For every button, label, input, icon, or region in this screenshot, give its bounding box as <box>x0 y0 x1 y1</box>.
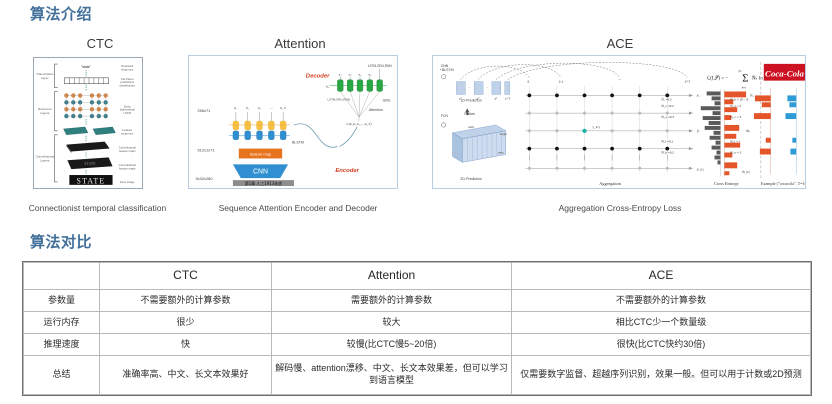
cell-memory-ace: 相比CTC少一个数量级 <box>512 312 811 334</box>
svg-text:ȳₖ: ȳₖ <box>697 129 701 133</box>
table-row: 推理速度 快 较慢(比CTC慢5~20倍) 很快(比CTC快约30倍) <box>24 334 811 356</box>
row-label-speed: 推理速度 <box>24 334 100 356</box>
svg-text:|C|: |C| <box>739 69 743 73</box>
table-header-attention: Attention <box>272 263 512 290</box>
table-header-row: CTC Attention ACE <box>24 263 811 290</box>
svg-text:-: - <box>469 86 470 90</box>
svg-text:3x32x280: 3x32x280 <box>195 176 213 181</box>
svg-text:CNN: CNN <box>253 169 268 176</box>
figure-ace: CNN+BLSTM FCN 1D-Prediction 2D-Predictio… <box>432 55 806 189</box>
svg-text:Attention: Attention <box>369 108 383 112</box>
attention-diagram: 256x71 512x1x71 3x32x280 <box>189 56 397 188</box>
svg-text:y²: y² <box>477 96 480 100</box>
table-row: 运行内存 很少 较大 相比CTC少一个数量级 <box>24 312 811 334</box>
cell-params-attention: 需要额外的计算参数 <box>272 290 512 312</box>
cell-speed-ace: 很快(比CTC快约30倍) <box>512 334 811 356</box>
svg-text:ℒ(I,𝒮) = −: ℒ(I,𝒮) = − <box>707 76 729 82</box>
svg-text:LSTM: LSTM <box>123 111 131 115</box>
row-label-summary: 总结 <box>24 356 100 395</box>
svg-text:ȳ₁: ȳ₁ <box>697 93 700 97</box>
svg-text:N̄ₖ ln ȳₖ: N̄ₖ ln ȳₖ <box>752 76 768 82</box>
svg-text:feature maps: feature maps <box>119 167 136 171</box>
ace-diagram: CNN+BLSTM FCN 1D-Prediction 2D-Predictio… <box>433 56 805 188</box>
svg-text:k=1: k=1 <box>742 86 747 90</box>
svg-text:Aggregation: Aggregation <box>599 181 621 186</box>
svg-text:FCN: FCN <box>441 114 449 118</box>
svg-text:ȳ^T: ȳ^T <box>685 80 691 84</box>
svg-text:y_k^j: y_k^j <box>592 125 600 129</box>
cell-summary-ace: 仅需要数字监督、超越序列识别，效果一般。但可以用于计数或2D预测 <box>512 356 811 395</box>
comparison-table: CTC Attention ACE 参数量 不需要额外的计算参数 需要额外的计算… <box>23 262 811 395</box>
svg-text:BLSTM: BLSTM <box>292 141 304 145</box>
svg-text:Layer: Layer <box>41 76 49 80</box>
cell-memory-ctc: 很少 <box>100 312 272 334</box>
svg-text:Input image: Input image <box>120 180 135 184</box>
table-header-ctc: CTC <box>100 263 272 290</box>
svg-text:(distribution): (distribution) <box>119 84 135 88</box>
svg-text:—: — <box>617 78 622 82</box>
table-header-ace: ACE <box>512 263 811 290</box>
svg-text:ȳ_|C|: ȳ_|C| <box>697 167 705 171</box>
svg-text:Encoder: Encoder <box>335 168 359 174</box>
svg-text:sequence: sequence <box>121 67 134 71</box>
cell-speed-ctc: 快 <box>100 334 272 356</box>
svg-text:GRU: GRU <box>383 98 391 102</box>
svg-text:256x71: 256x71 <box>197 108 210 113</box>
slide-root: 算法介绍 CTC Attention ACE TranscriptionLaye… <box>0 0 832 404</box>
svg-text:ȳ₁: ȳ₁ <box>527 80 530 84</box>
figure-caption-attention: Sequence Attention Encoder and Decoder <box>193 203 403 213</box>
svg-text:N̄₁: N̄₁ <box>750 93 754 98</box>
svg-text:feature map: feature map <box>250 151 272 156</box>
svg-text:y₁: y₁ <box>339 73 342 77</box>
svg-text:Decoder: Decoder <box>306 74 330 80</box>
table-row: 参数量 不需要额外的计算参数 需要额外的计算参数 不需要额外的计算参数 <box>24 290 811 312</box>
svg-text:N̄ₖ: N̄ₖ <box>746 128 751 133</box>
svg-text:"state": "state" <box>81 65 91 69</box>
figure-ctc: TranscriptionLayer RecurrentLayers Convo… <box>33 57 143 189</box>
cell-summary-attention: 解码慢、attention漂移、中文、长文本效果差，但可以学习到语言模型 <box>272 356 512 395</box>
svg-text:N̄_|C|: N̄_|C| <box>742 170 750 175</box>
cell-params-ace: 不需要额外的计算参数 <box>512 290 811 312</box>
row-label-memory: 运行内存 <box>24 312 100 334</box>
table-row: 总结 准确率高、中文、长文本效果好 解码慢、attention漂移、中文、长文本… <box>24 356 811 395</box>
svg-text:LSTM,GRU,RNN: LSTM,GRU,RNN <box>327 97 349 101</box>
section-heading-intro: 算法介绍 <box>30 3 92 24</box>
cell-params-ctc: 不需要额外的计算参数 <box>100 290 272 312</box>
cell-speed-attention: 较慢(比CTC慢5~20倍) <box>272 334 512 356</box>
figure-attention: 256x71 512x1x71 3x32x280 <box>188 55 398 189</box>
svg-text:height: height <box>500 132 507 136</box>
svg-text:Layers: Layers <box>40 111 50 115</box>
svg-text:第1章 人工1913年底: 第1章 人工1913年底 <box>245 181 282 186</box>
svg-text:sequence: sequence <box>121 131 134 135</box>
svg-text:512x1x71: 512x1x71 <box>197 148 214 153</box>
section-heading-compare: 算法对比 <box>30 231 92 252</box>
figure-title-ace: ACE <box>430 36 810 51</box>
svg-text:Flatten: Flatten <box>464 112 475 116</box>
svg-text:+BLSTM: +BLSTM <box>440 68 454 72</box>
svg-text:y^T: y^T <box>505 96 510 100</box>
svg-text:ȳ_j: ȳ_j <box>559 80 564 84</box>
figure-title-attention: Attention <box>200 36 400 51</box>
svg-text:-: - <box>486 86 487 90</box>
svg-text:LSTM,GRU,RNN: LSTM,GRU,RNN <box>368 64 393 68</box>
svg-text:Σ: Σ <box>742 73 748 85</box>
cell-summary-ctc: 准确率高、中文、长文本效果好 <box>100 356 272 395</box>
table-header-blank <box>24 263 100 290</box>
svg-text:2D-Prediction: 2D-Prediction <box>460 177 481 181</box>
svg-text:Layers: Layers <box>40 158 50 162</box>
svg-text:feature maps: feature maps <box>119 149 136 153</box>
svg-text:y³: y³ <box>495 96 498 100</box>
figure-caption-ace: Aggregation Cross-Entropy Loss <box>430 203 810 213</box>
ctc-diagram: TranscriptionLayer RecurrentLayers Convo… <box>34 58 142 188</box>
svg-text:STATE: STATE <box>84 162 96 166</box>
svg-text:Cross Entropy: Cross Entropy <box>714 181 740 186</box>
cell-memory-attention: 较大 <box>272 312 512 334</box>
figure-caption-ctc: Connectionist temporal classification <box>5 203 190 213</box>
row-label-params: 参数量 <box>24 290 100 312</box>
svg-text:STATE: STATE <box>77 176 106 185</box>
svg-text:h_T: h_T <box>280 106 287 110</box>
svg-text:h₁: h₁ <box>234 106 237 110</box>
figure-title-ctc: CTC <box>20 36 180 51</box>
svg-text:…: … <box>270 106 274 110</box>
svg-text:y¹: y¹ <box>459 96 462 100</box>
svg-text:width: width <box>468 125 475 129</box>
svg-text:class: class <box>498 151 505 155</box>
